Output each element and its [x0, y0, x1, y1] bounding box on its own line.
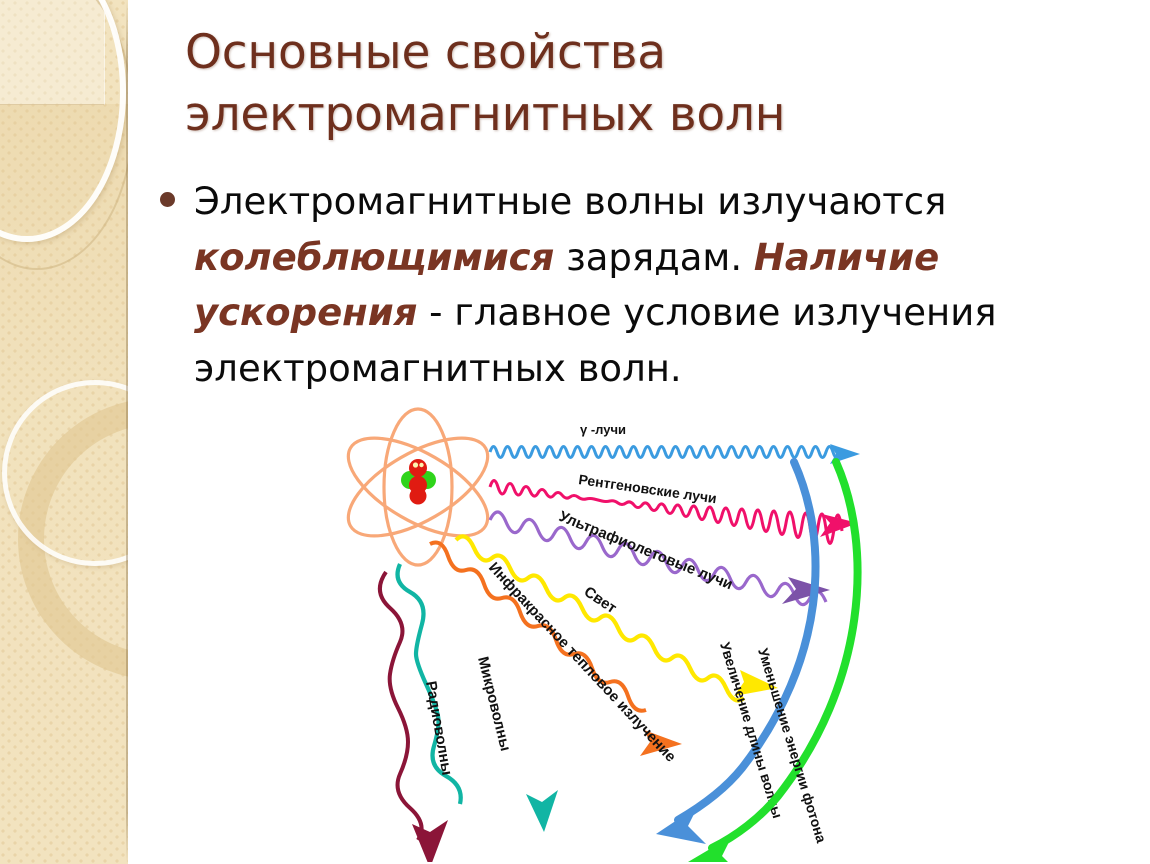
slide-title: Основные свойства электромагнитных волн: [185, 22, 885, 146]
atom-illustration: [333, 409, 502, 565]
body-part-2: зарядам.: [554, 236, 754, 279]
wave-infrared-label: Инфракрасное тепловое излучение: [485, 559, 679, 765]
wave-gamma-label: γ -лучи: [580, 422, 626, 437]
wave-radio-label: Радиоволны: [422, 680, 455, 777]
bullet-list-item: Электромагнитные волны излучаются колебл…: [152, 174, 1082, 396]
slide-body: Электромагнитные волны излучаются колебл…: [152, 174, 1082, 396]
atom-nucleus: [401, 459, 436, 505]
wave-radio: Радиоволны: [380, 572, 455, 862]
title-line-1: Основные свойства: [185, 22, 885, 84]
body-emphasis-1: колеблющимися: [194, 236, 554, 279]
decorative-sidebar: [0, 0, 128, 864]
bullet-dot-icon: [160, 192, 175, 207]
body-part-0: Электромагнитные волны излучаются: [194, 180, 946, 223]
title-line-2: электромагнитных волн: [185, 84, 885, 146]
bullet-text: Электромагнитные волны излучаются колебл…: [194, 174, 1082, 396]
slide-canvas: Основные свойства электромагнитных волн …: [0, 0, 1150, 864]
sidebar-edge: [126, 0, 128, 864]
wave-microwave-label: Микроволны: [474, 655, 514, 753]
electromagnetic-spectrum-diagram: γ -лучи Рентгеновские лучи Ультрафиолето…: [330, 392, 890, 862]
wave-gamma: γ -лучи: [490, 422, 860, 464]
wave-infrared: Инфракрасное тепловое излучение: [430, 543, 682, 766]
wave-light-label: Свет: [581, 583, 620, 617]
wave-uv-label: Ультрафиолетовые лучи: [557, 508, 736, 593]
